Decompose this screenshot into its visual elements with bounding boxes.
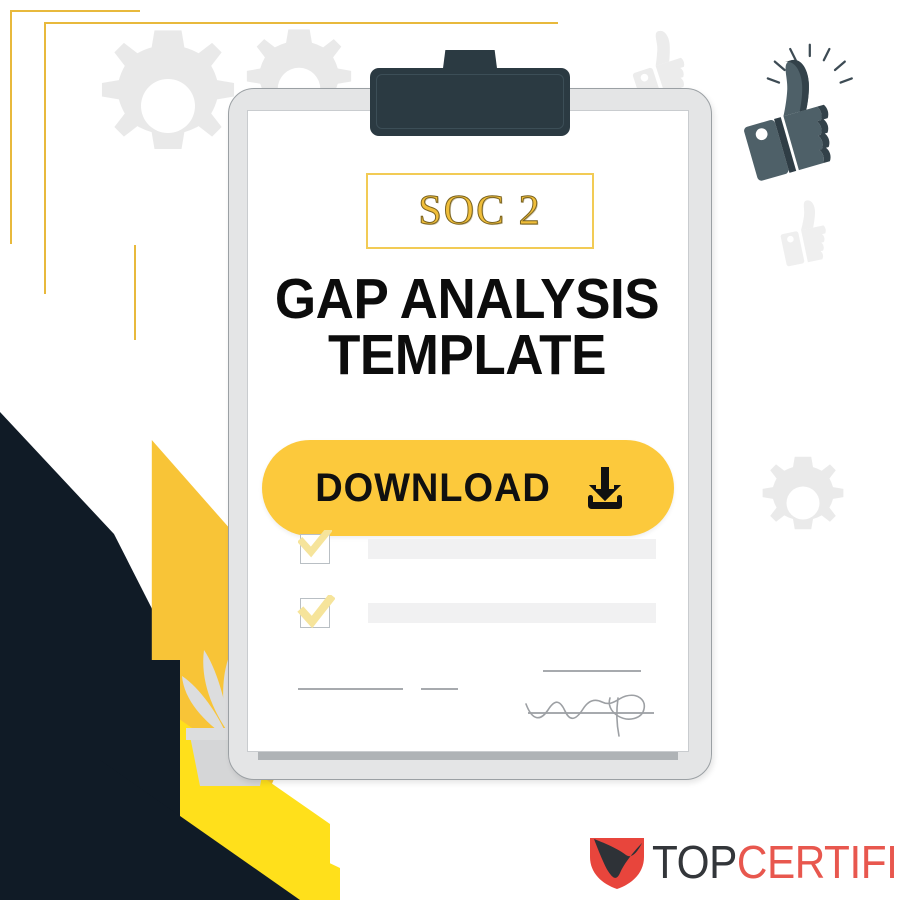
logo-certifier-text: CERTIFIER xyxy=(737,836,900,888)
soc2-badge-label: SOC 2 xyxy=(418,187,541,235)
placeholder-line xyxy=(368,539,656,559)
brand-logo: TOPCERTIFIER xyxy=(586,833,900,891)
checkmark-icon xyxy=(297,595,335,629)
gold-frame-inner-vertical xyxy=(134,245,136,340)
corner-band-navy-lower xyxy=(0,660,180,900)
headline-line-2: TEMPLATE xyxy=(262,328,671,384)
thumbs-up-icon xyxy=(730,42,870,182)
gear-icon xyxy=(748,448,858,558)
placeholder-line xyxy=(368,603,656,623)
thumbs-up-icon xyxy=(772,190,854,272)
checkmark-icon xyxy=(298,530,332,562)
download-button-label: DOWNLOAD xyxy=(315,466,551,511)
headline-line-1: GAP ANALYSIS xyxy=(275,267,659,331)
download-button[interactable]: DOWNLOAD xyxy=(262,440,674,536)
corner-band-navy-diag xyxy=(100,760,300,900)
soc2-badge: SOC 2 xyxy=(366,173,594,249)
signature-scribble-icon xyxy=(522,678,667,738)
logo-top-text: TOP xyxy=(652,836,737,888)
page-title: GAP ANALYSIS TEMPLATE xyxy=(262,272,671,384)
signature-line-mid xyxy=(421,688,458,690)
signature-line-left xyxy=(298,688,403,690)
promotional-poster: SOC 2 GAP ANALYSIS TEMPLATE DOWNLOAD xyxy=(0,0,900,900)
logo-word-primary: TOPCERTIFIER xyxy=(652,835,900,889)
shield-check-icon xyxy=(586,833,648,891)
download-arrow-icon xyxy=(583,465,627,511)
gold-frame-outer xyxy=(10,10,140,244)
clipboard-clip xyxy=(370,68,570,136)
signature-line-top-right xyxy=(543,670,641,672)
